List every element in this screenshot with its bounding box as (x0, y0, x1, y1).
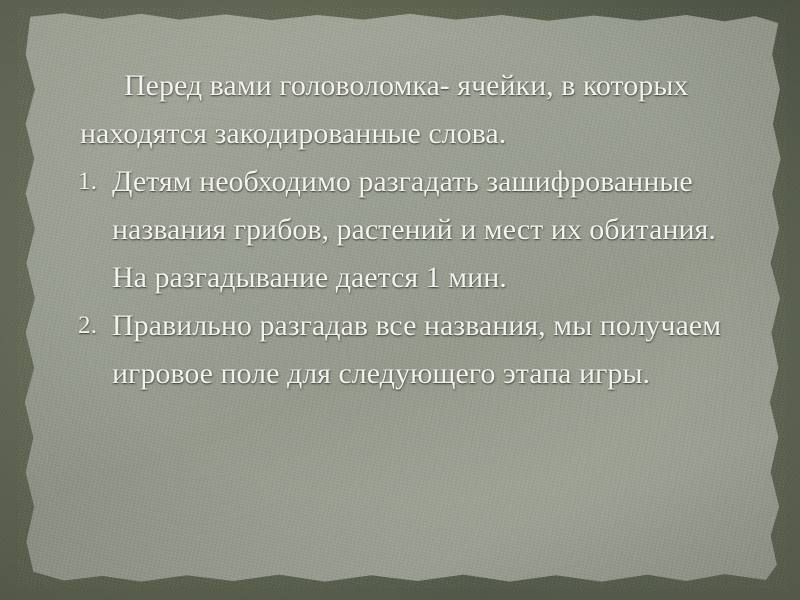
list-item: 2. Правильно разгадав все названия, мы п… (62, 302, 734, 398)
lead-paragraph: Перед вами головоломка- ячейки, в которы… (62, 62, 734, 158)
list-marker-1: 1. (78, 158, 97, 206)
slide-text-body: Перед вами головоломка- ячейки, в которы… (62, 62, 734, 398)
list-item-text-2: Правильно разгадав все названия, мы полу… (112, 302, 734, 398)
instruction-list: 1. Детям необходимо разгадать зашифрован… (62, 158, 734, 398)
list-item-text-1: Детям необходимо разгадать зашифрованные… (112, 158, 734, 302)
list-marker-2: 2. (78, 302, 97, 350)
list-item: 1. Детям необходимо разгадать зашифрован… (62, 158, 734, 302)
slide: Перед вами головоломка- ячейки, в которы… (0, 0, 800, 600)
